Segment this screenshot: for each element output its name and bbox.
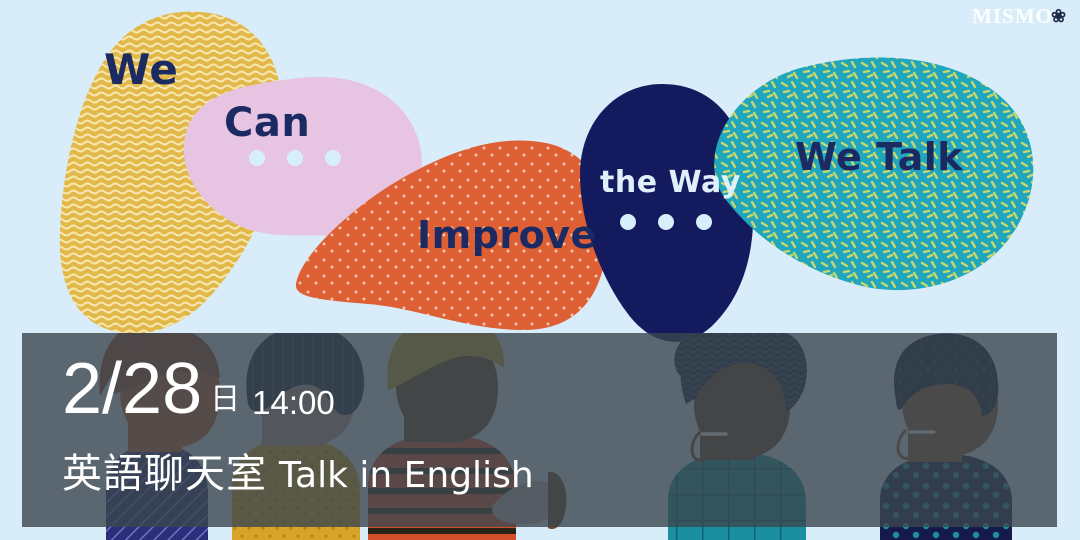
bird-mark-icon: ❀: [1051, 8, 1066, 25]
event-title-row: 英語聊天室 Talk in English: [62, 441, 534, 499]
bubble-label-we-talk: We Talk: [795, 135, 963, 179]
bubble-label-can: Can: [224, 100, 310, 146]
bubble-label-improve: Improve: [417, 213, 597, 257]
dot: [696, 214, 712, 230]
info-text-block: 2/28 日 14:00 英語聊天室 Talk in English: [22, 333, 1057, 527]
event-time: 14:00: [252, 383, 335, 423]
ellipsis-dots-can: [249, 150, 341, 166]
dot: [658, 214, 674, 230]
ellipsis-dots-the-way: [620, 214, 712, 230]
dot: [249, 150, 265, 166]
event-date-row: 2/28 日 14:00: [62, 355, 335, 423]
poster-canvas: We Can Improve the Way We Talk MISMO ❀: [0, 0, 1080, 540]
event-title-en: Talk in English: [279, 455, 534, 496]
dot: [325, 150, 341, 166]
dot: [620, 214, 636, 230]
brand-logo: MISMO ❀: [972, 4, 1066, 29]
dot: [287, 150, 303, 166]
event-title-jp: 英語聊天室: [62, 441, 267, 499]
event-date: 2/28: [62, 355, 202, 423]
bubble-label-the-way: the Way: [600, 165, 741, 200]
event-weekday: 日: [210, 377, 240, 423]
brand-name: MISMO: [972, 4, 1053, 29]
bubble-label-we: We: [104, 45, 178, 94]
